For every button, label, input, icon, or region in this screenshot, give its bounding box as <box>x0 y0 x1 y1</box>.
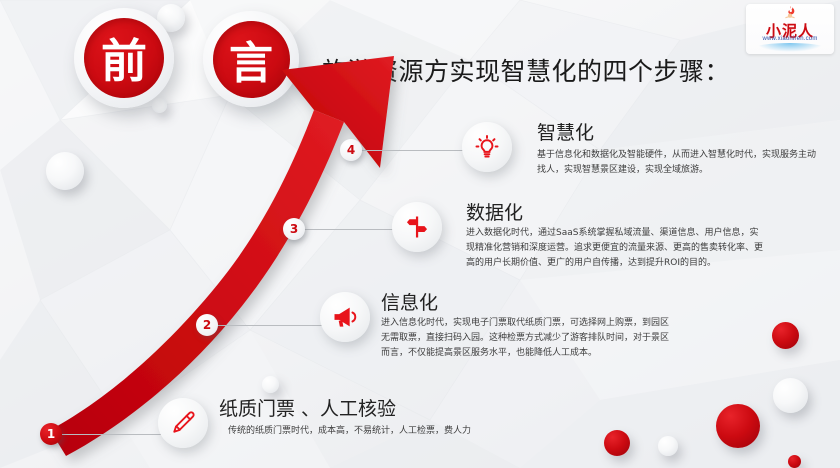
step-number-3-label: 3 <box>290 222 298 236</box>
signpost-icon <box>403 213 431 241</box>
decor-sphere-red-4 <box>788 455 801 468</box>
leader-line-4 <box>358 150 473 151</box>
decor-sphere-white-5 <box>773 378 808 413</box>
step-4-title: 智慧化 <box>537 118 594 145</box>
step-3-title: 数据化 <box>466 198 523 225</box>
pencil-icon <box>169 409 197 437</box>
step-number-3[interactable]: 3 <box>283 218 305 240</box>
lightbulb-icon <box>473 133 501 161</box>
step-3-icon-circle[interactable] <box>392 202 442 252</box>
step-2-description: 进入信息化时代，实现电子门票取代纸质门票，可选择网上购票，到园区无需取票，直接扫… <box>381 316 674 361</box>
step-1-icon-circle[interactable] <box>158 398 208 448</box>
step-1-description: 传统的纸质门票时代，成本高，不易统计，人工检票，费人力 <box>228 424 558 439</box>
step-number-1[interactable]: 1 <box>40 423 62 445</box>
step-1-title: 纸质门票 、人工核验 <box>219 394 396 421</box>
slide-canvas: 前 言 旅游资源方实现智慧化的四个步骤： 小泥人 www.xiaoniren.c… <box>0 0 840 468</box>
brand-logo[interactable]: 小泥人 www.xiaoniren.com <box>746 4 834 54</box>
mascot-icon <box>782 5 798 21</box>
step-number-1-label: 1 <box>47 427 55 441</box>
step-number-2-label: 2 <box>203 318 211 332</box>
step-number-4[interactable]: 4 <box>340 139 362 161</box>
logo-wave-decor <box>756 43 824 52</box>
step-2-icon-circle[interactable] <box>320 292 370 342</box>
decor-sphere-white-6 <box>658 436 678 456</box>
step-3-description: 进入数据化时代，通过SaaS系统掌握私域流量、渠道信息、用户信息，实现精准化营销… <box>466 226 764 271</box>
decor-sphere-red-2 <box>716 404 760 448</box>
logo-url: www.xiaoniren.com <box>746 36 834 42</box>
step-2-title: 信息化 <box>381 288 438 315</box>
megaphone-icon <box>331 303 359 331</box>
leader-line-3 <box>300 229 405 230</box>
decor-sphere-red-1 <box>772 322 799 349</box>
decor-sphere-red-3 <box>604 430 630 456</box>
step-4-icon-circle[interactable] <box>462 122 512 172</box>
step-number-4-label: 4 <box>347 143 355 157</box>
step-number-2[interactable]: 2 <box>196 314 218 336</box>
step-4-description: 基于信息化和数据化及智能硬件，从而进入智慧化时代，实现服务主动找人，实现智慧景区… <box>537 148 823 178</box>
